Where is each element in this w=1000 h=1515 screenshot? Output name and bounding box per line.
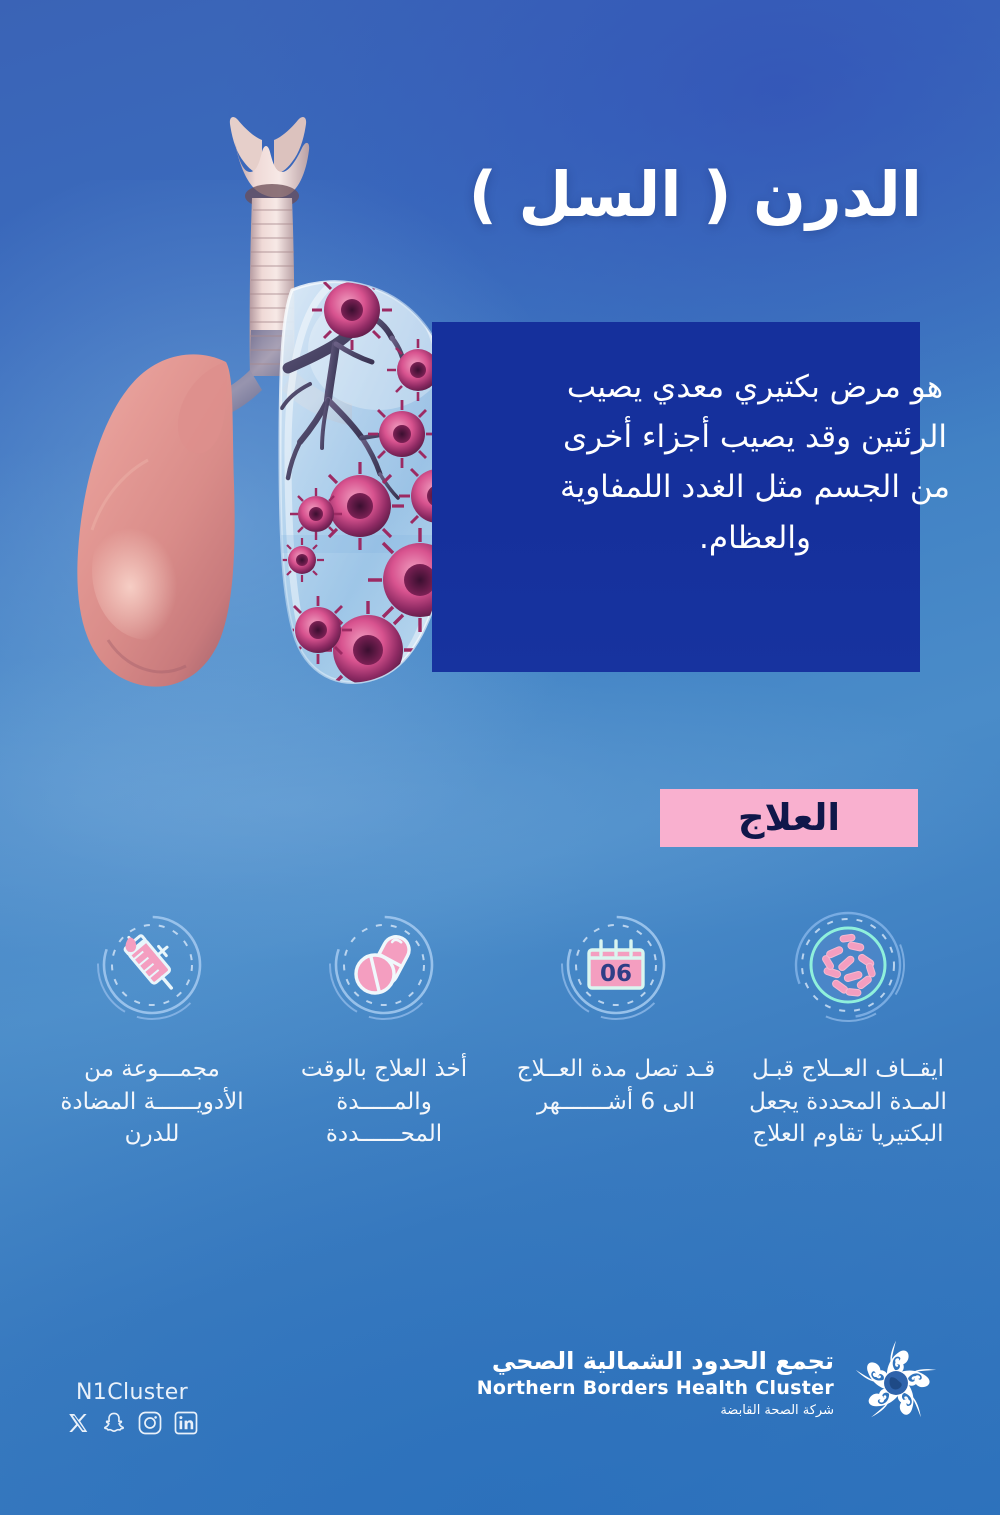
treatment-item-resistance: ايقــاف العــلاج قبـل المـدة المحددة يجع…: [732, 905, 964, 1151]
page-title: الدرن ( السل ): [469, 160, 922, 229]
organization-logo: تجمع الحدود الشمالية الصحي Northern Bord…: [477, 1337, 942, 1429]
treatment-item-ontime: أخذ العلاج بالوقت والمـــــدة المحــــــ…: [268, 905, 500, 1151]
poster-canvas: الدرن ( السل ) هو مرض بكتيري معدي يصيب ا…: [0, 0, 1000, 1515]
calendar-icon: 06: [556, 905, 676, 1025]
social-block: N1Cluster: [66, 1380, 198, 1435]
pink-lung: [77, 354, 234, 686]
health-cluster-star-logo-icon: [850, 1337, 942, 1429]
organization-logo-text: تجمع الحدود الشمالية الصحي Northern Bord…: [477, 1346, 834, 1421]
instagram-icon[interactable]: [138, 1411, 162, 1435]
treatment-section-badge: العلاج: [660, 789, 918, 847]
organization-name-ar: تجمع الحدود الشمالية الصحي: [477, 1346, 834, 1376]
snapchat-icon[interactable]: [102, 1411, 126, 1435]
organization-subline: شركة الصحة القابضة: [477, 1402, 834, 1420]
syringe-icon: [92, 905, 212, 1025]
treatment-item-text: ايقــاف العــلاج قبـل المـدة المحددة يجع…: [743, 1053, 953, 1151]
treatment-item-text: مجمـــوعة من الأدويــــــة المضادة للدرن: [47, 1053, 257, 1151]
treatment-badge-label: العلاج: [738, 799, 840, 836]
treatment-item-duration: 06 قـد تصل مدة العــلاج الى 6 أشـــــــه…: [500, 905, 732, 1151]
treatment-item-medicines: مجمـــوعة من الأدويــــــة المضادة للدرن: [36, 905, 268, 1151]
treatment-item-text: قـد تصل مدة العــلاج الى 6 أشـــــــهر: [511, 1053, 721, 1118]
calendar-number: 06: [600, 961, 632, 987]
organization-name-en: Northern Borders Health Cluster: [477, 1376, 834, 1401]
lungs-illustration: [30, 100, 500, 720]
treatment-item-text: أخذ العلاج بالوقت والمـــــدة المحــــــ…: [279, 1053, 489, 1151]
social-icons-row: [66, 1411, 198, 1435]
larynx: [230, 117, 309, 208]
pills-icon: [324, 905, 444, 1025]
x-icon[interactable]: [66, 1411, 90, 1435]
treatment-items-row: مجمـــوعة من الأدويــــــة المضادة للدرن: [0, 905, 1000, 1151]
social-handle: N1Cluster: [76, 1380, 188, 1405]
description-text: هو مرض بكتيري معدي يصيب الرئتين وقد يصيب…: [546, 362, 964, 563]
linkedin-icon[interactable]: [174, 1411, 198, 1435]
bacteria-icon: [788, 905, 908, 1025]
